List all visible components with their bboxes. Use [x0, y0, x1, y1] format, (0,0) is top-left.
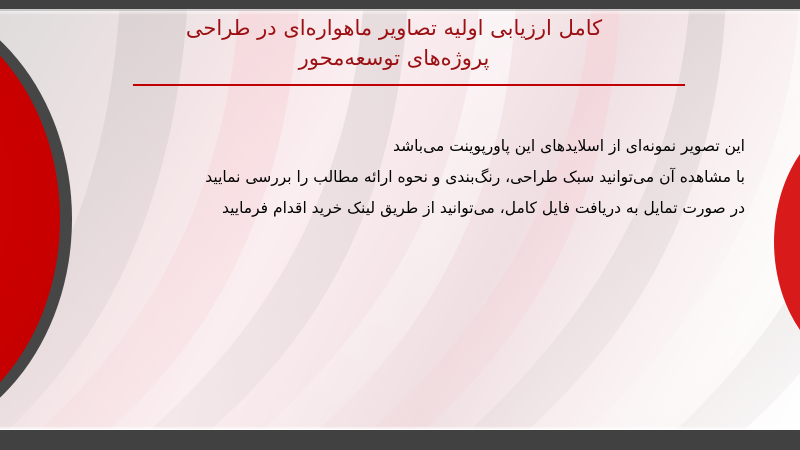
right-ellipse-fill — [774, 111, 800, 373]
body-line-1: این تصویر نمونه‌ای از اسلایدهای این پاور… — [45, 131, 745, 162]
slide-canvas: کامل ارزیابی اولیه تصاویر ماهواره‌ای در … — [0, 9, 800, 430]
top-frame-bar — [0, 0, 800, 9]
presentation-slide: کامل ارزیابی اولیه تصاویر ماهواره‌ای در … — [0, 0, 800, 450]
title-underline-rule — [133, 84, 685, 86]
body-line-2: با مشاهده آن می‌توانید سبک طراحی، رنگ‌بن… — [45, 162, 745, 193]
slide-title-line-1: کامل ارزیابی اولیه تصاویر ماهواره‌ای در … — [60, 13, 736, 43]
slide-title: کامل ارزیابی اولیه تصاویر ماهواره‌ای در … — [60, 13, 736, 73]
slide-body-text: این تصویر نمونه‌ای از اسلایدهای این پاور… — [45, 131, 745, 224]
body-line-3: در صورت تمایل به دریافت فایل کامل، می‌تو… — [45, 193, 745, 224]
bottom-frame-bar — [0, 430, 800, 450]
slide-title-line-2: پروژه‌های توسعه‌محور — [60, 43, 736, 73]
